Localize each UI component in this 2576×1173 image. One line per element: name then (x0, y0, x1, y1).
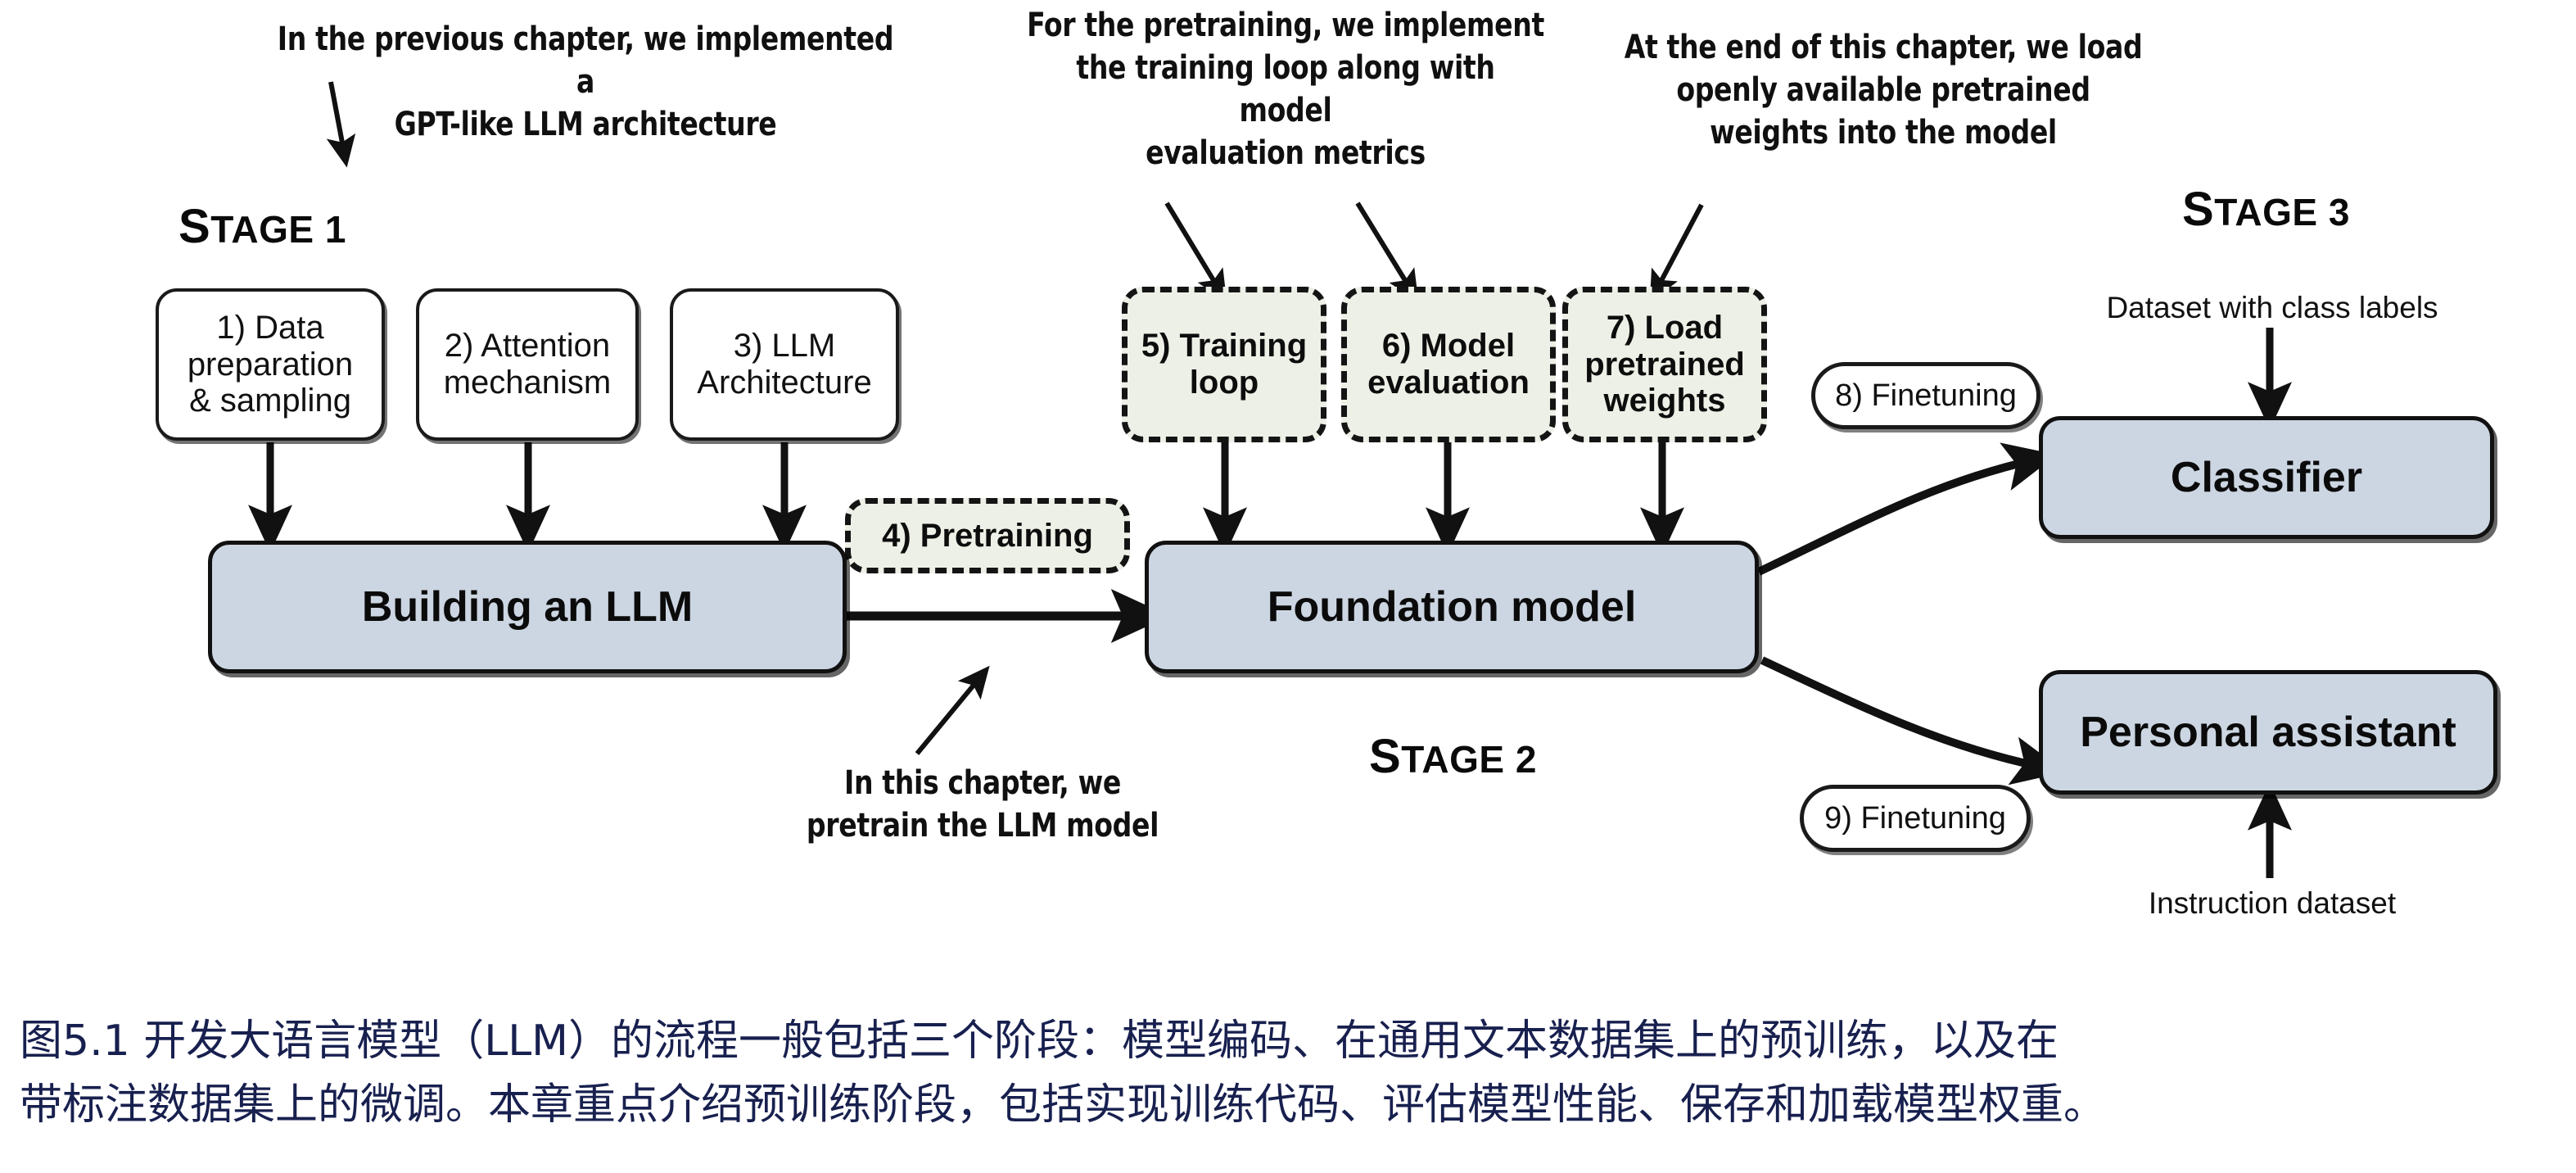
step-model-evaluation[interactable]: 6) Model evaluation (1341, 287, 1556, 442)
annot-line: weights into the model (1624, 111, 2144, 154)
box-label: Building an LLM (362, 583, 693, 631)
stage-label-1: STAGE 1 (179, 199, 346, 254)
step-data-preparation[interactable]: 1) Data preparation & sampling (156, 288, 385, 441)
figure-canvas: In the previous chapter, we implemented … (0, 0, 2576, 1173)
annot-line: At the end of this chapter, we load (1624, 26, 2144, 69)
annot-line: the training loop along with model (1026, 47, 1546, 132)
step-line: mechanism (444, 365, 612, 401)
box-label: Foundation model (1268, 583, 1637, 631)
pill-finetuning-9[interactable]: 9) Finetuning (1800, 785, 2031, 852)
step-line: 1) Data (188, 310, 353, 346)
annot-prev-chapter: In the previous chapter, we implemented … (273, 18, 898, 146)
label-dataset-class: Dataset with class labels (2072, 291, 2473, 325)
pill-label: 9) Finetuning (1824, 801, 2006, 836)
box-building-an-llm[interactable]: Building an LLM (208, 541, 847, 673)
caption-line-1: 图5.1 开发大语言模型（LLM）的流程一般包括三个阶段：模型编码、在通用文本数… (20, 1009, 2558, 1073)
step-training-loop[interactable]: 5) Training loop (1122, 287, 1326, 442)
step-line: 7) Load (1584, 310, 1745, 346)
stage-label-2: STAGE 2 (1369, 729, 1537, 784)
step-line: & sampling (188, 383, 353, 419)
step-line: pretrained (1584, 346, 1745, 383)
step-line: 4) Pretraining (882, 518, 1093, 555)
stage-label-rest: TAGE 3 (2214, 191, 2350, 233)
caption-line-2: 带标注数据集上的微调。本章重点介绍预训练阶段，包括实现训练代码、评估模型性能、保… (20, 1073, 2558, 1137)
stage-label-initial: S (1369, 730, 1401, 783)
label-text: Instruction dataset (2149, 886, 2396, 920)
stage-label-rest: TAGE 1 (210, 208, 346, 251)
annot-line: pretrain the LLM model (734, 804, 1231, 847)
pill-finetuning-8[interactable]: 8) Finetuning (1811, 362, 2040, 429)
label-text: Dataset with class labels (2106, 291, 2438, 324)
box-foundation-model[interactable]: Foundation model (1145, 541, 1759, 673)
stage-label-3: STAGE 3 (2182, 182, 2350, 237)
step-line: weights (1584, 383, 1745, 419)
label-instruction-dataset: Instruction dataset (2096, 886, 2448, 921)
box-classifier[interactable]: Classifier (2039, 416, 2494, 539)
annot-line: GPT-like LLM architecture (273, 103, 898, 146)
annot-line: openly available pretrained (1624, 69, 2144, 111)
annot-line: For the pretraining, we implement (1026, 4, 1546, 47)
box-personal-assistant[interactable]: Personal assistant (2039, 670, 2497, 795)
step-line: 3) LLM (697, 328, 871, 365)
step-line: preparation (188, 346, 353, 383)
stage-label-initial: S (179, 200, 210, 253)
figure-caption: 图5.1 开发大语言模型（LLM）的流程一般包括三个阶段：模型编码、在通用文本数… (20, 1009, 2558, 1137)
box-label: Classifier (2171, 454, 2362, 501)
step-line: Architecture (697, 365, 871, 401)
step-line: evaluation (1367, 365, 1530, 401)
step-line: 2) Attention (444, 328, 612, 365)
box-label: Personal assistant (2080, 709, 2456, 756)
annot-this-chapter: In this chapter, we pretrain the LLM mod… (734, 762, 1231, 847)
annot-load-weights: At the end of this chapter, we load open… (1624, 26, 2144, 154)
stage-label-initial: S (2182, 183, 2214, 236)
step-line: 5) Training (1141, 328, 1307, 365)
annot-line: In the previous chapter, we implemented … (273, 18, 898, 103)
step-llm-architecture[interactable]: 3) LLM Architecture (670, 288, 899, 441)
annot-line: In this chapter, we (734, 762, 1231, 804)
stage-label-rest: TAGE 2 (1401, 738, 1537, 781)
step-attention[interactable]: 2) Attention mechanism (416, 288, 639, 441)
step-pretraining[interactable]: 4) Pretraining (845, 498, 1130, 573)
annot-pretraining-impl: For the pretraining, we implement the tr… (1026, 4, 1546, 174)
annot-line: evaluation metrics (1026, 132, 1546, 174)
step-load-pretrained-weights[interactable]: 7) Load pretrained weights (1562, 287, 1767, 442)
pill-label: 8) Finetuning (1835, 378, 2017, 414)
step-line: loop (1141, 365, 1307, 401)
step-line: 6) Model (1367, 328, 1530, 365)
